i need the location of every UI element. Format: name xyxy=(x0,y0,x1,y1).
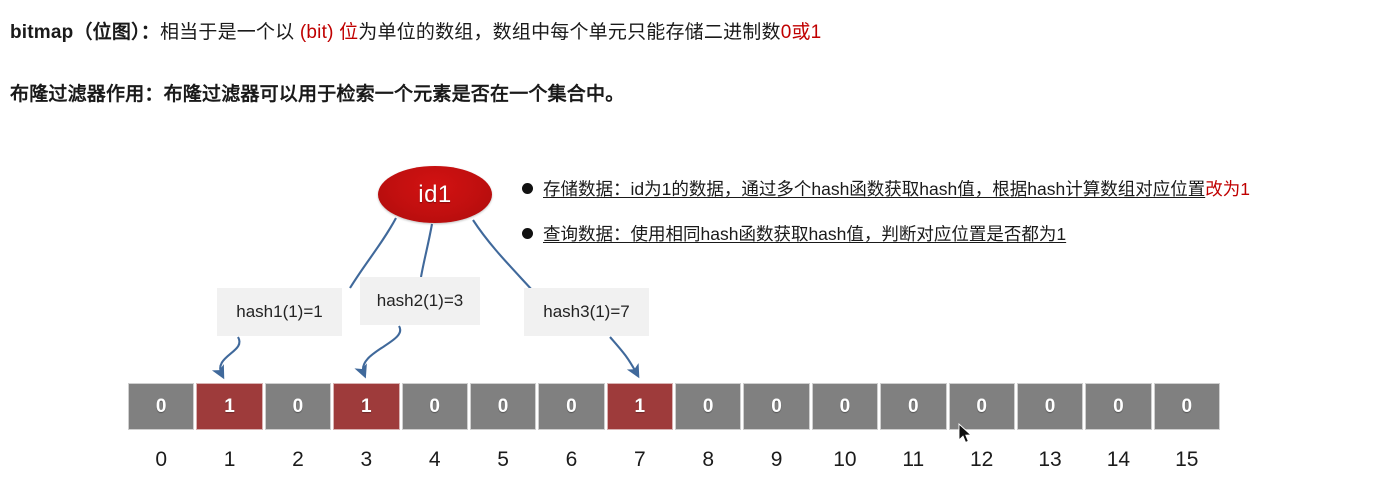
bitmap-cell-7[interactable]: 1 xyxy=(607,383,673,430)
mouse-cursor-icon xyxy=(958,423,974,445)
bullet-text-query: 查询数据：使用相同hash函数获取hash值，判断对应位置是否都为1 xyxy=(543,222,1066,246)
bitmap-index-4: 4 xyxy=(402,444,468,476)
heading-bloom-filter: 布隆过滤器作用：布隆过滤器可以用于检索一个元素是否在一个集合中。 xyxy=(10,82,624,108)
bitmap-index-2: 2 xyxy=(265,444,331,476)
entity-node-label: id1 xyxy=(418,181,452,209)
heading-bitmap-segment-4: 0或1 xyxy=(781,22,822,43)
bitmap-cell-6[interactable]: 0 xyxy=(538,383,604,430)
list-item: 存储数据：id为1的数据，通过多个hash函数获取hash值，根据hash计算数… xyxy=(522,177,1250,201)
hash-label-text: hash1(1)=1 xyxy=(236,302,322,322)
bullet-store-segment-0: 存储数据：id为1的数据，通过多个hash函数获取hash值，根据hash计算数… xyxy=(543,179,1205,199)
bitmap-index-8: 8 xyxy=(675,444,741,476)
bitmap-cell-11[interactable]: 0 xyxy=(880,383,946,430)
list-item: 查询数据：使用相同hash函数获取hash值，判断对应位置是否都为1 xyxy=(522,222,1066,246)
arrow-hash1-to-cell1 xyxy=(220,337,239,375)
bitmap-index-10: 10 xyxy=(812,444,878,476)
bitmap-index-9: 9 xyxy=(743,444,809,476)
bullet-query-segment-0: 查询数据：使用相同hash函数获取hash值，判断对应位置是否都为1 xyxy=(543,224,1066,244)
hash-label-text: hash2(1)=3 xyxy=(377,291,463,311)
arrow-hash2-to-cell3 xyxy=(363,326,400,374)
bullet-dot-icon xyxy=(522,228,533,239)
bitmap-index-3: 3 xyxy=(333,444,399,476)
bitmap-index-14: 14 xyxy=(1085,444,1151,476)
bitmap-index-1: 1 xyxy=(196,444,262,476)
heading-bitmap-segment-0: bitmap（位图）： xyxy=(10,22,160,43)
entity-node-id1[interactable]: id1 xyxy=(378,166,492,223)
bitmap-index-5: 5 xyxy=(470,444,536,476)
bitmap-cell-5[interactable]: 0 xyxy=(470,383,536,430)
bitmap-cell-14[interactable]: 0 xyxy=(1085,383,1151,430)
bitmap-cell-8[interactable]: 0 xyxy=(675,383,741,430)
bitmap-array: 0101000100000000 xyxy=(128,383,1220,430)
bitmap-index-11: 11 xyxy=(880,444,946,476)
bitmap-index-15: 15 xyxy=(1154,444,1220,476)
bitmap-index-0: 0 xyxy=(128,444,194,476)
hash-label-text: hash3(1)=7 xyxy=(543,302,629,322)
bitmap-cell-1[interactable]: 1 xyxy=(196,383,262,430)
hash-label-box-1[interactable]: hash1(1)=1 xyxy=(217,288,342,336)
heading-bloom-segment-1: 布隆过滤器可以用于检索一个元素是否在一个集合中。 xyxy=(164,84,625,105)
bitmap-cell-10[interactable]: 0 xyxy=(812,383,878,430)
bitmap-cell-13[interactable]: 0 xyxy=(1017,383,1083,430)
bitmap-cell-9[interactable]: 0 xyxy=(743,383,809,430)
heading-bitmap-segment-1: 相当于是一个以 xyxy=(160,22,300,43)
bitmap-index-12: 12 xyxy=(949,444,1015,476)
bitmap-index-13: 13 xyxy=(1017,444,1083,476)
arrow-hash3-to-cell7 xyxy=(610,337,637,374)
heading-bitmap-segment-2: (bit) 位 xyxy=(300,22,358,43)
bitmap-cell-2[interactable]: 0 xyxy=(265,383,331,430)
bullet-store-segment-1: 改为1 xyxy=(1205,179,1250,199)
heading-bitmap-segment-3: 为单位的数组，数组中每个单元只能存储二进制数 xyxy=(358,22,780,43)
bitmap-cell-3[interactable]: 1 xyxy=(333,383,399,430)
bitmap-index-7: 7 xyxy=(607,444,673,476)
hash-label-box-2[interactable]: hash2(1)=3 xyxy=(360,277,480,325)
bitmap-cell-0[interactable]: 0 xyxy=(128,383,194,430)
curve-id1-to-hash2 xyxy=(421,224,432,277)
bullet-dot-icon xyxy=(522,183,533,194)
bitmap-cell-15[interactable]: 0 xyxy=(1154,383,1220,430)
heading-bitmap: bitmap（位图）：相当于是一个以 (bit) 位为单位的数组，数组中每个单元… xyxy=(10,20,821,46)
bitmap-index-6: 6 xyxy=(538,444,604,476)
heading-bloom-segment-0: 布隆过滤器作用： xyxy=(10,84,164,105)
bitmap-index-labels: 0123456789101112131415 xyxy=(128,444,1220,476)
hash-label-box-3[interactable]: hash3(1)=7 xyxy=(524,288,649,336)
bitmap-cell-4[interactable]: 0 xyxy=(402,383,468,430)
bullet-text-store: 存储数据：id为1的数据，通过多个hash函数获取hash值，根据hash计算数… xyxy=(543,177,1250,201)
